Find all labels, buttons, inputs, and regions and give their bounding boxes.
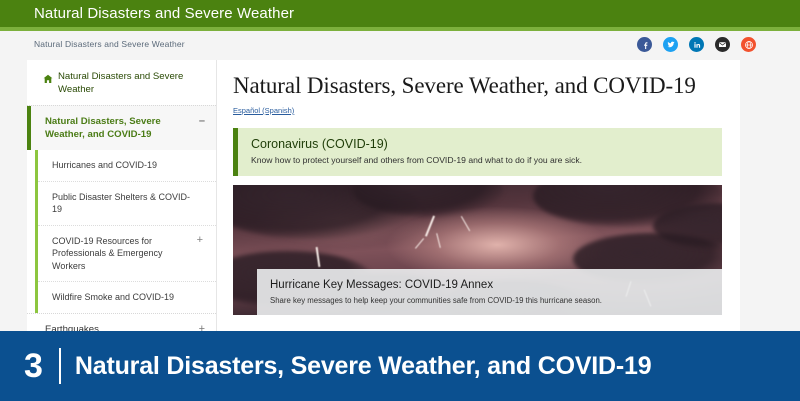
linkedin-icon[interactable] xyxy=(689,37,704,52)
page-card: Natural Disasters and Severe Weather Nat… xyxy=(27,60,740,340)
hurricane-hero-image[interactable]: Hurricane Key Messages: COVID-19 Annex S… xyxy=(233,185,722,315)
hero-caption-description: Share key messages to help keep your com… xyxy=(270,295,710,306)
callout-title: Coronavirus (COVID-19) xyxy=(251,136,710,152)
collapse-minus-icon[interactable]: – xyxy=(199,115,205,128)
site-header-title: Natural Disasters and Severe Weather xyxy=(34,5,294,22)
sidebar-item-wildfire-smoke-covid19[interactable]: Wildfire Smoke and COVID-19 xyxy=(38,281,216,313)
callout-description: Know how to protect yourself and others … xyxy=(251,154,710,166)
sidebar-item-active-label: Natural Disasters, Severe Weather, and C… xyxy=(45,116,161,140)
sidebar-subitem-label: Hurricanes and COVID-19 xyxy=(52,160,157,170)
banner-title: Natural Disasters, Severe Weather, and C… xyxy=(75,354,652,379)
hero-caption-title: Hurricane Key Messages: COVID-19 Annex xyxy=(270,278,710,293)
sidebar-nav: Natural Disasters and Severe Weather Nat… xyxy=(27,60,217,340)
sidebar-item-home[interactable]: Natural Disasters and Severe Weather xyxy=(27,60,216,105)
page-root: Natural Disasters and Severe Weather Nat… xyxy=(0,0,800,401)
expand-plus-icon[interactable]: + xyxy=(197,234,203,247)
twitter-icon[interactable] xyxy=(663,37,678,52)
sidebar-subitem-label: Public Disaster Shelters & COVID-19 xyxy=(52,192,190,215)
bottom-banner: 3 Natural Disasters, Severe Weather, and… xyxy=(0,331,800,401)
sidebar-subitem-label: Wildfire Smoke and COVID-19 xyxy=(52,292,174,302)
sidebar-item-public-disaster-shelters[interactable]: Public Disaster Shelters & COVID-19 xyxy=(38,181,216,225)
sidebar-item-home-label: Natural Disasters and Severe Weather xyxy=(58,70,202,96)
site-header: Natural Disasters and Severe Weather xyxy=(0,0,800,27)
sidebar-item-natural-disasters-covid19[interactable]: Natural Disasters, Severe Weather, and C… xyxy=(27,105,216,150)
email-icon[interactable] xyxy=(715,37,730,52)
sidebar-item-hurricanes-covid19[interactable]: Hurricanes and COVID-19 xyxy=(38,150,216,181)
banner-divider xyxy=(59,348,61,384)
social-share-row xyxy=(637,37,756,52)
sidebar-subitem-label: COVID-19 Resources for Professionals & E… xyxy=(52,236,163,271)
sidebar-subnav: Hurricanes and COVID-19 Public Disaster … xyxy=(27,150,216,313)
breadcrumb[interactable]: Natural Disasters and Severe Weather xyxy=(34,39,185,49)
facebook-icon[interactable] xyxy=(637,37,652,52)
hero-caption[interactable]: Hurricane Key Messages: COVID-19 Annex S… xyxy=(257,269,722,315)
main-content: Natural Disasters, Severe Weather, and C… xyxy=(218,60,740,340)
sidebar-item-covid19-resources-professionals[interactable]: COVID-19 Resources for Professionals & E… xyxy=(38,225,216,282)
syndicate-icon[interactable] xyxy=(741,37,756,52)
banner-slide-number: 3 xyxy=(24,349,43,383)
home-icon xyxy=(43,71,53,89)
spanish-language-link[interactable]: Español (Spanish) xyxy=(233,106,294,115)
page-title: Natural Disasters, Severe Weather, and C… xyxy=(233,72,722,100)
coronavirus-callout[interactable]: Coronavirus (COVID-19) Know how to prote… xyxy=(233,128,722,176)
